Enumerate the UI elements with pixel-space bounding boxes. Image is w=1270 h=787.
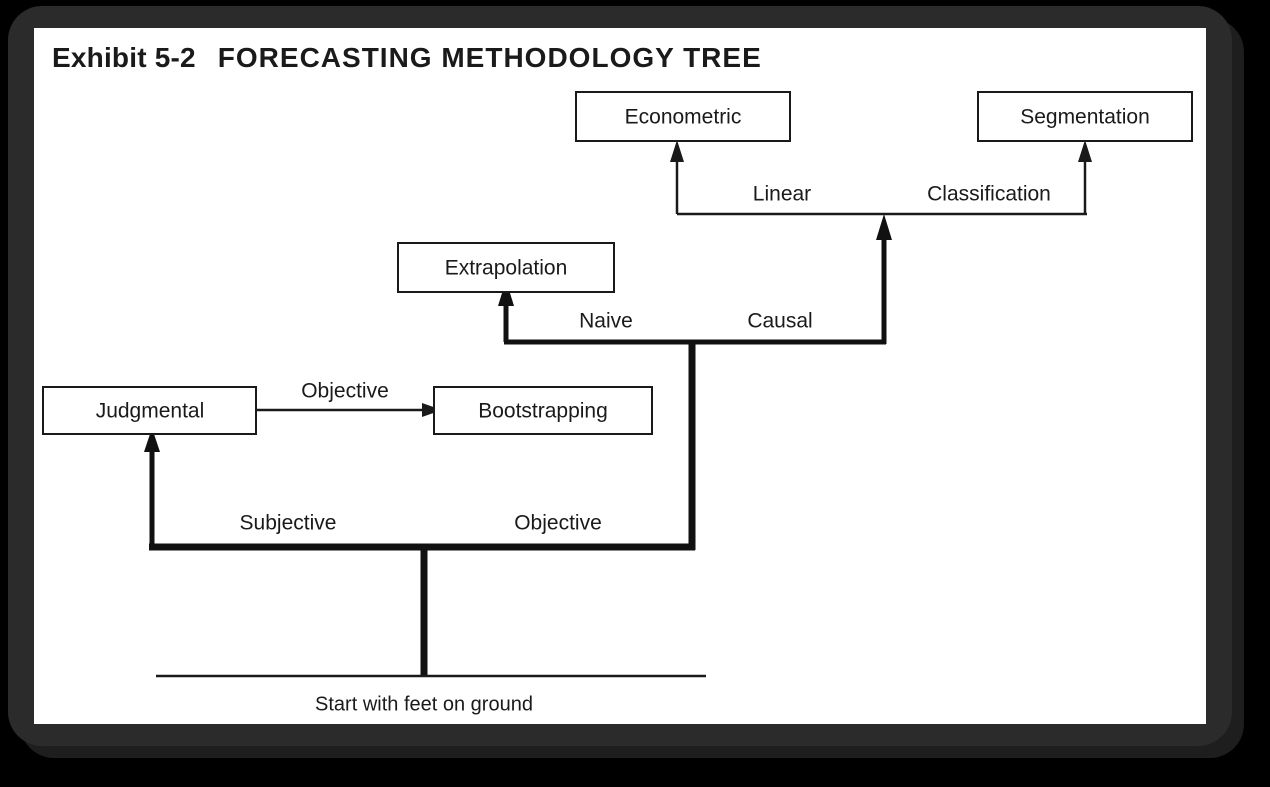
- edge-label-subjective: Subjective: [240, 512, 337, 535]
- node-econometric-label: Econometric: [625, 106, 742, 129]
- node-judgmental-label: Judgmental: [96, 400, 205, 423]
- node-bootstrapping[interactable]: Bootstrapping: [434, 387, 652, 434]
- node-segmentation-label: Segmentation: [1020, 106, 1150, 129]
- node-econometric[interactable]: Econometric: [576, 92, 790, 141]
- edge-label-classification: Classification: [927, 183, 1051, 206]
- arrowhead-causal-split: [876, 214, 892, 240]
- edge-label-objective-trunk: Objective: [514, 512, 602, 535]
- edge-label-naive: Naive: [579, 310, 633, 333]
- figure-paper: Exhibit 5-2FORECASTING METHODOLOGY TREE: [34, 28, 1206, 724]
- node-extrapolation-label: Extrapolation: [445, 257, 568, 280]
- node-extrapolation[interactable]: Extrapolation: [398, 243, 614, 292]
- edge-label-causal: Causal: [747, 310, 812, 333]
- methodology-tree-diagram: Econometric Segmentation Extrapolation J…: [34, 28, 1206, 724]
- ground-caption: Start with feet on ground: [315, 693, 533, 715]
- node-bootstrapping-label: Bootstrapping: [478, 400, 608, 423]
- edge-label-objective-bootstrapping: Objective: [301, 380, 389, 403]
- screenshot-root: Exhibit 5-2FORECASTING METHODOLOGY TREE: [0, 0, 1270, 787]
- arrowhead-econometric: [670, 140, 684, 162]
- arrowhead-segmentation: [1078, 140, 1092, 162]
- edge-label-linear: Linear: [753, 183, 811, 206]
- node-segmentation[interactable]: Segmentation: [978, 92, 1192, 141]
- node-judgmental[interactable]: Judgmental: [43, 387, 256, 434]
